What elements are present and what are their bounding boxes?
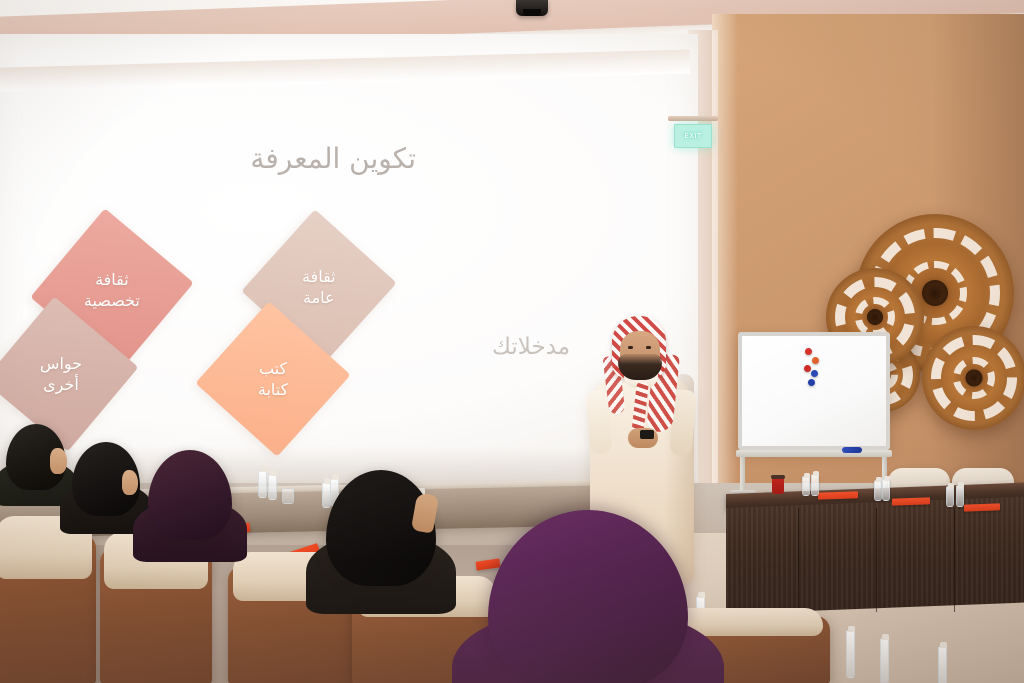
whiteboard-surface[interactable] bbox=[742, 336, 886, 446]
slide-center-text: مدخلاتك bbox=[492, 334, 570, 360]
conference-room-scene: تكوين المعرفة مدخلاتك ثقافة تخصصية حواس … bbox=[0, 0, 1024, 683]
water-bottle-icon bbox=[956, 485, 964, 507]
water-bottle-icon bbox=[946, 486, 954, 507]
attendee-hijab bbox=[488, 510, 688, 683]
presenter-beard bbox=[618, 354, 662, 380]
red-folder bbox=[818, 491, 858, 499]
water-bottle-icon bbox=[938, 646, 947, 683]
wooden-console-table bbox=[726, 494, 1024, 614]
console-panel-seam bbox=[876, 508, 877, 612]
attendee-4 bbox=[326, 470, 436, 586]
ceiling-projector-icon bbox=[516, 0, 548, 16]
magnet-icon[interactable] bbox=[804, 365, 811, 372]
magnet-icon[interactable] bbox=[805, 348, 812, 355]
slide-card-label: حواس أخرى bbox=[40, 353, 82, 395]
exit-sign-bracket bbox=[668, 116, 718, 121]
magnet-icon[interactable] bbox=[812, 357, 819, 364]
whiteboard-frame bbox=[738, 332, 890, 450]
screen-top-edge bbox=[0, 50, 690, 92]
slide-title: تكوين المعرفة bbox=[250, 142, 416, 175]
attendee-5 bbox=[488, 510, 688, 683]
disc-hub bbox=[922, 280, 948, 306]
console-panel-seam bbox=[954, 508, 955, 612]
exit-sign-label: EXIT bbox=[684, 132, 701, 140]
console-body bbox=[726, 496, 1024, 614]
marker-icon[interactable] bbox=[842, 447, 862, 453]
attendee-2 bbox=[72, 442, 140, 516]
presentation-remote-icon bbox=[640, 430, 654, 439]
slide-card-label: ثقافة عامة bbox=[302, 266, 336, 308]
audience-chair bbox=[100, 548, 212, 683]
red-folder bbox=[892, 497, 930, 505]
attendee-face bbox=[50, 448, 67, 474]
water-bottle-icon bbox=[802, 476, 810, 496]
attendee-1 bbox=[6, 424, 66, 490]
water-bottle-icon bbox=[846, 630, 855, 678]
water-bottle-icon bbox=[874, 480, 882, 501]
drinking-glass-icon bbox=[282, 488, 294, 504]
presenter-eye bbox=[628, 346, 633, 349]
whiteboard-marker-tray bbox=[736, 450, 892, 457]
magnet-icon[interactable] bbox=[808, 379, 815, 386]
water-bottle-icon bbox=[268, 474, 277, 500]
attendee-face bbox=[122, 470, 138, 495]
water-bottle-icon bbox=[882, 479, 890, 501]
calligraphy-disc-icon bbox=[922, 326, 1024, 430]
water-bottle-icon bbox=[811, 474, 819, 496]
audience-chair bbox=[0, 534, 96, 683]
attendee-hijab bbox=[148, 450, 232, 540]
attendee-3 bbox=[148, 450, 232, 540]
coffee-cup-icon bbox=[772, 478, 784, 494]
exit-sign-icon: EXIT bbox=[674, 124, 712, 148]
magnet-icon[interactable] bbox=[811, 370, 818, 377]
slide-card-label: ثقافة تخصصية bbox=[84, 269, 140, 311]
water-bottle-icon bbox=[880, 638, 889, 683]
slide-card-label: كتب كتابة bbox=[258, 358, 288, 400]
disc-hub bbox=[966, 370, 983, 387]
presenter-eye bbox=[646, 346, 651, 349]
disc-hub bbox=[867, 309, 883, 325]
water-bottle-icon bbox=[258, 470, 267, 498]
red-folder bbox=[964, 503, 1000, 511]
console-panel-seam bbox=[798, 508, 799, 612]
